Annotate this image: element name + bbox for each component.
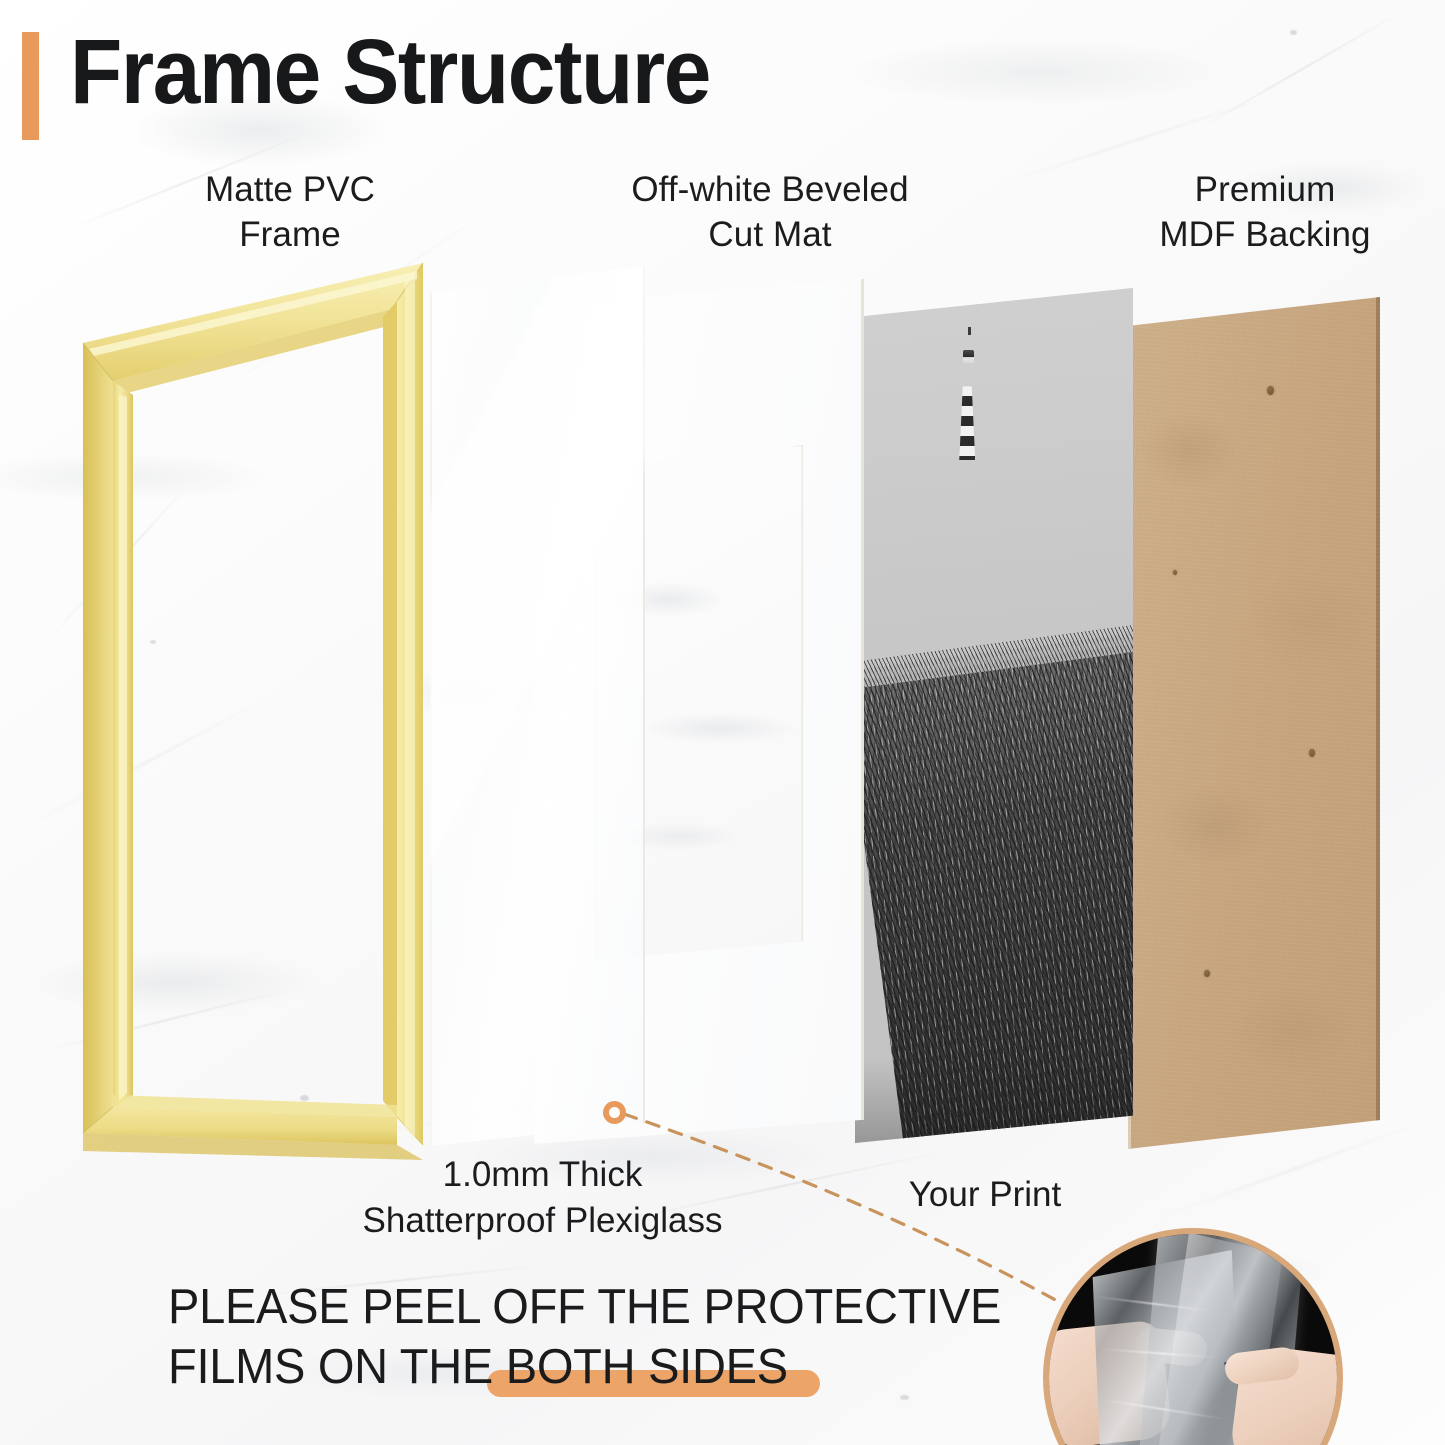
lighthouse-lamp-icon [963, 350, 974, 363]
layer-your-print [855, 288, 1133, 1143]
mdf-knot [1267, 386, 1274, 395]
peel-film-notice: PLEASE PEEL OFF THE PROTECTIVE FILMS ON … [168, 1278, 1032, 1398]
mdf-knot [1204, 970, 1210, 977]
label-your-print: Your Print [855, 1172, 1115, 1218]
label-mdf-backing: Premium MDF Backing [1090, 168, 1440, 258]
mdf-grain-texture [1128, 297, 1380, 1149]
inset-peel-film-photo [1043, 1228, 1343, 1445]
plexiglass-sheen [430, 266, 645, 1146]
infographic-canvas: Frame Structure Matte PVC Frame Off-whit… [0, 0, 1445, 1445]
layer-pvc-frame [75, 255, 445, 1160]
label-cut-mat: Off-white Beveled Cut Mat [560, 168, 980, 258]
label-plexiglass: 1.0mm Thick Shatterproof Plexiglass [250, 1152, 835, 1243]
page-title: Frame Structure [70, 26, 710, 118]
pvc-frame-illustration [75, 255, 445, 1160]
lighthouse-tip-icon [968, 327, 971, 335]
label-matte-pvc-frame: Matte PVC Frame [110, 168, 470, 258]
title-accent-bar [22, 32, 39, 140]
layer-plexiglass [430, 266, 645, 1146]
layer-mdf-backing [1128, 297, 1380, 1149]
callout-origin-dot [603, 1101, 626, 1124]
